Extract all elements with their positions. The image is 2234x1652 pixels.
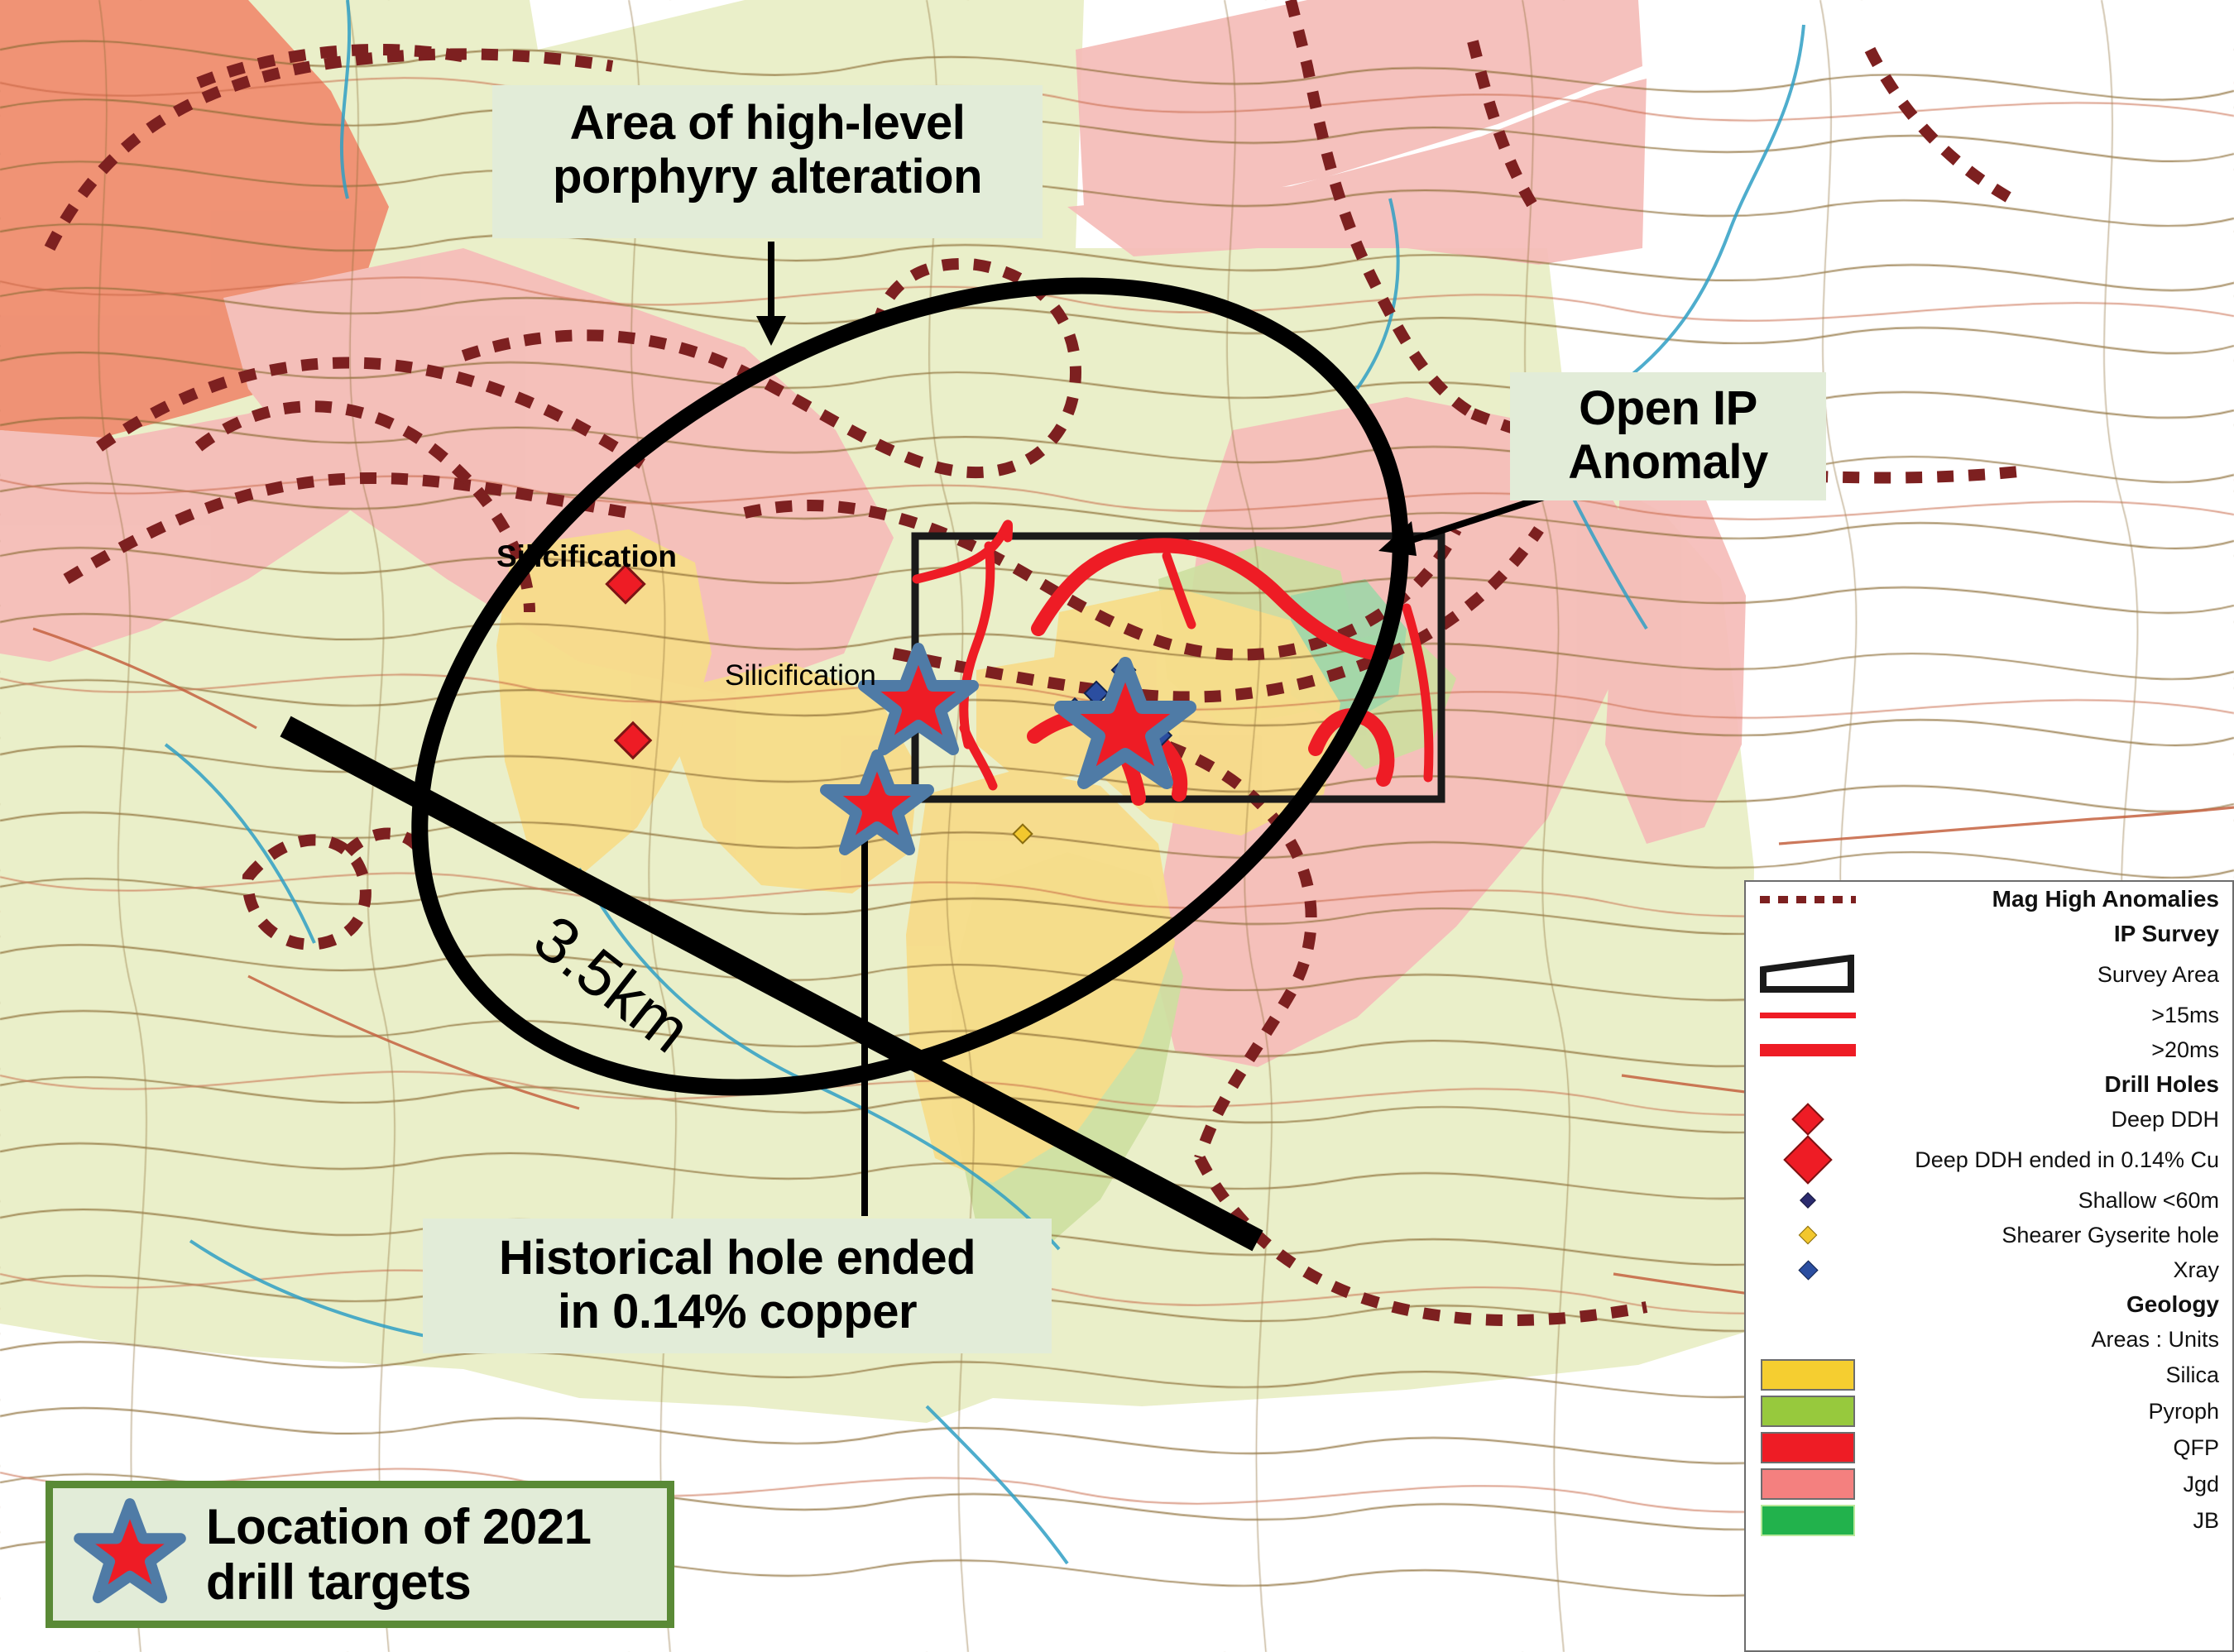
legend-label-unit-silica: Silica [1870,1362,2232,1388]
legend-row-ip-20ms[interactable]: >20ms [1746,1032,2232,1067]
legend-label-unit-qfp: QFP [1870,1435,2232,1461]
drill-target-legend-box: Location of 2021 drill targets [46,1481,674,1628]
callout-porphyry-alteration: Area of high-level porphyry alteration [492,85,1043,238]
legend-row-unit-silica[interactable]: Silica [1746,1357,2232,1393]
legend-row-ip-survey-header: IP Survey [1746,917,2232,951]
legend-row-deep-ddh-014cu[interactable]: Deep DDH ended in 0.14% Cu [1746,1137,2232,1183]
legend-row-geology-header: Geology [1746,1287,2232,1322]
legend-row-shearer-gyserite-hole[interactable]: Shearer Gyserite hole [1746,1218,2232,1252]
callout-openip-line1: Open IP [1510,382,1826,436]
map-legend-panel: Mag High Anomalies IP Survey Survey Area… [1744,880,2234,1652]
legend-row-shallow-60m[interactable]: Shallow <60m [1746,1183,2232,1218]
ip-20ms-icon [1746,1032,1870,1067]
jb-swatch-icon [1746,1502,1870,1539]
legend-row-unit-pyroph[interactable]: Pyroph [1746,1393,2232,1429]
label-silicification-north: Silicification [496,539,677,573]
callout-historical-line1: Historical hole ended [423,1232,1052,1286]
pyroph-swatch-icon [1746,1393,1870,1429]
drill-target-legend-line1: Location of 2021 [206,1499,591,1554]
callout-porphyry-line2: porphyry alteration [492,151,1043,204]
legend-row-unit-jgd[interactable]: Jgd [1746,1466,2232,1502]
callout-historical-hole: Historical hole ended in 0.14% copper [423,1219,1052,1353]
legend-label-deep-ddh: Deep DDH [1870,1107,2232,1132]
legend-row-drill-holes-header: Drill Holes [1746,1067,2232,1102]
qfp-swatch-icon [1746,1429,1870,1466]
callout-historical-line2: in 0.14% copper [423,1286,1052,1339]
mag-high-anomalies-icon [1746,882,1870,917]
legend-label-ip-survey: IP Survey [1870,921,2232,947]
ip-15ms-icon [1746,998,1870,1032]
legend-row-unit-jb[interactable]: JB [1746,1502,2232,1539]
legend-label-mag-high-anomalies: Mag High Anomalies [1870,886,2232,912]
legend-row-xray[interactable]: Xray [1746,1252,2232,1287]
map-figure: Silicification Silicification 3.5km Area… [0,0,2234,1652]
deep-ddh-diamond-icon [1746,1102,1870,1137]
drill-target-legend-text: Location of 2021 drill targets [206,1499,591,1610]
legend-label-unit-jb: JB [1870,1508,2232,1534]
label-silicification-central: Silicification [725,659,876,692]
gyserite-diamond-icon [1746,1218,1870,1252]
legend-row-mag-high-anomalies[interactable]: Mag High Anomalies [1746,882,2232,917]
legend-label-survey-area: Survey Area [1870,962,2232,988]
legend-label-shallow-60m: Shallow <60m [1870,1188,2232,1214]
legend-label-xray: Xray [1870,1257,2232,1283]
legend-label-unit-pyroph: Pyroph [1870,1399,2232,1425]
legend-label-ip-20ms: >20ms [1870,1037,2232,1063]
jgd-swatch-icon [1746,1466,1870,1502]
xray-diamond-icon [1746,1252,1870,1287]
legend-row-unit-qfp[interactable]: QFP [1746,1429,2232,1466]
legend-label-unit-jgd: Jgd [1870,1472,2232,1497]
silica-swatch-icon [1746,1357,1870,1393]
legend-label-geology: Geology [1870,1291,2232,1318]
legend-row-areas-units: Areas : Units [1746,1322,2232,1357]
legend-label-drill-holes: Drill Holes [1870,1071,2232,1098]
legend-star-icon [53,1496,206,1612]
shallow-diamond-icon [1746,1183,1870,1218]
deep-ddh-large-diamond-icon [1746,1137,1870,1183]
legend-label-deep-ddh-014cu: Deep DDH ended in 0.14% Cu [1870,1147,2232,1173]
legend-row-deep-ddh[interactable]: Deep DDH [1746,1102,2232,1137]
legend-row-survey-area[interactable]: Survey Area [1746,951,2232,998]
drill-target-legend-line2: drill targets [206,1554,591,1610]
legend-label-shearer-gyserite-hole: Shearer Gyserite hole [1870,1223,2232,1248]
legend-row-ip-15ms[interactable]: >15ms [1746,998,2232,1032]
legend-label-areas-units: Areas : Units [1870,1327,2232,1353]
legend-label-ip-15ms: >15ms [1870,1003,2232,1028]
callout-open-ip-anomaly: Open IP Anomaly [1510,372,1826,500]
callout-porphyry-line1: Area of high-level [492,97,1043,151]
callout-openip-line2: Anomaly [1510,436,1826,490]
survey-area-icon [1746,951,1870,998]
